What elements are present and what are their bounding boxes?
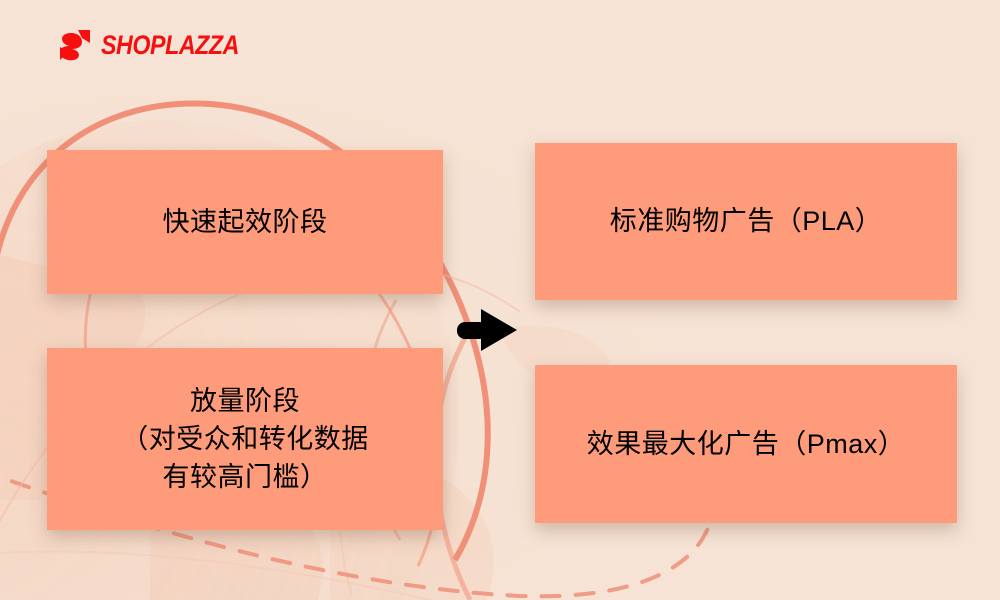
right-arrow-icon: [457, 307, 519, 353]
slide-canvas: SHOPLAZZA 快速起效阶段 放量阶段 （对受众和转化数据 有较高门槛） 标…: [0, 0, 1000, 600]
brand-wordmark: SHOPLAZZA: [101, 29, 239, 61]
stage-card-scale-up[interactable]: 放量阶段 （对受众和转化数据 有较高门槛）: [47, 348, 443, 530]
stage-card-scale-up-label: 放量阶段 （对受众和转化数据 有较高门槛）: [121, 382, 369, 497]
ad-type-card-pmax-label: 效果最大化广告（Pmax）: [587, 425, 906, 463]
stage-card-fast-effect[interactable]: 快速起效阶段: [47, 150, 443, 294]
ad-type-card-pmax[interactable]: 效果最大化广告（Pmax）: [535, 365, 957, 523]
brand-logo: SHOPLAZZA: [58, 26, 262, 64]
shoplazza-logo-mark-icon: [58, 29, 92, 61]
ad-type-card-pla[interactable]: 标准购物广告（PLA）: [535, 143, 957, 300]
ad-type-card-pla-label: 标准购物广告（PLA）: [610, 202, 883, 240]
stage-card-fast-effect-label: 快速起效阶段: [163, 203, 328, 241]
